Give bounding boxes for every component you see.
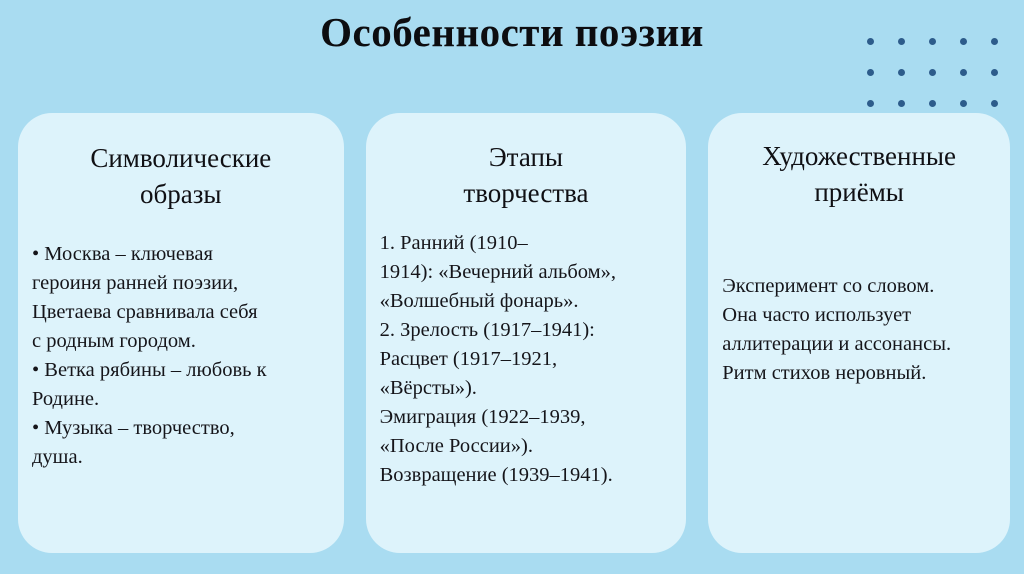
- slide-root: Особенности поэзии Символические образы …: [0, 0, 1024, 574]
- body-line: «Волшебный фонарь».: [380, 287, 677, 316]
- dot-icon: [991, 38, 998, 45]
- body-line: Цветаева сравнивала себя: [32, 298, 332, 327]
- dot-icon: [960, 69, 967, 76]
- decorative-dot-grid: [855, 26, 1010, 119]
- card-creative-stages: Этапы творчества 1. Ранний (1910– 1914):…: [366, 113, 687, 553]
- dot-icon: [898, 100, 905, 107]
- card-heading-line: Этапы: [380, 139, 673, 175]
- card-heading-line: приёмы: [722, 174, 996, 210]
- body-line: Родине.: [32, 385, 332, 414]
- body-line: Она часто использует: [722, 301, 1002, 330]
- card-body: • Москва – ключевая героиня ранней поэзи…: [18, 240, 344, 472]
- body-line: 1. Ранний (1910–: [380, 229, 677, 258]
- dot-icon: [867, 38, 874, 45]
- body-line: • Музыка – творчество,: [32, 414, 332, 443]
- body-line: с родным городом.: [32, 327, 332, 356]
- card-heading: Символические образы: [18, 140, 344, 212]
- card-body: 1. Ранний (1910– 1914): «Вечерний альбом…: [366, 229, 687, 490]
- dot-icon: [867, 100, 874, 107]
- body-line: душа.: [32, 443, 332, 472]
- cards-row: Символические образы • Москва – ключевая…: [18, 113, 1010, 553]
- body-line: 1914): «Вечерний альбом»,: [380, 258, 677, 287]
- card-symbolic-images: Символические образы • Москва – ключевая…: [18, 113, 344, 553]
- body-line: «После России»).: [380, 432, 677, 461]
- body-line: «Вёрсты»).: [380, 374, 677, 403]
- dot-icon: [929, 100, 936, 107]
- dot-icon: [991, 100, 998, 107]
- dot-icon: [898, 38, 905, 45]
- dot-icon: [960, 38, 967, 45]
- card-artistic-devices: Художественные приёмы Эксперимент со сло…: [708, 113, 1010, 553]
- body-line: 2. Зрелость (1917–1941):: [380, 316, 677, 345]
- card-heading-line: Символические: [32, 140, 330, 176]
- dot-icon: [898, 69, 905, 76]
- card-heading-line: Художественные: [722, 138, 996, 174]
- card-heading: Художественные приёмы: [708, 138, 1010, 210]
- card-body: Эксперимент со словом. Она часто использ…: [708, 272, 1010, 388]
- body-line: Расцвет (1917–1921,: [380, 345, 677, 374]
- card-heading-line: образы: [32, 176, 330, 212]
- card-heading: Этапы творчества: [366, 139, 687, 211]
- body-line: Эксперимент со словом.: [722, 272, 1002, 301]
- body-line: героиня ранней поэзии,: [32, 269, 332, 298]
- dot-icon: [929, 38, 936, 45]
- body-line: Эмиграция (1922–1939,: [380, 403, 677, 432]
- body-line: Ритм стихов неровный.: [722, 359, 1002, 388]
- card-heading-line: творчества: [380, 175, 673, 211]
- dot-icon: [960, 100, 967, 107]
- body-line: • Москва – ключевая: [32, 240, 332, 269]
- body-line: аллитерации и ассонансы.: [722, 330, 1002, 359]
- dot-icon: [991, 69, 998, 76]
- body-line: • Ветка рябины – любовь к: [32, 356, 332, 385]
- body-line: Возвращение (1939–1941).: [380, 461, 677, 490]
- dot-icon: [867, 69, 874, 76]
- dot-icon: [929, 69, 936, 76]
